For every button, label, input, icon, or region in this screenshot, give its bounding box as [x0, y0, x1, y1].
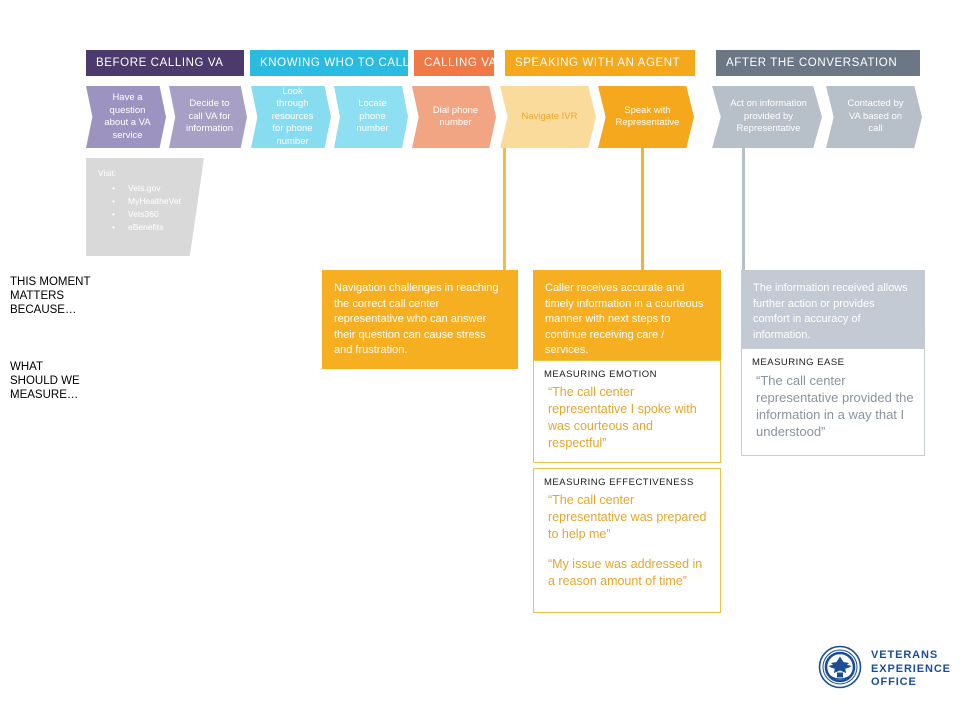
journey-step-label: Contacted byVA based oncall [848, 98, 904, 136]
va-seal-icon [818, 645, 862, 694]
measurement-quote-0: “The call center representative provided… [756, 373, 914, 439]
journey-step-label: Navigate IVR [522, 111, 578, 124]
visit-resources-panel: Visit: Vets.govMyHealtheVetVets360eBenef… [86, 158, 204, 256]
visit-resource-item-0: Vets.gov [112, 182, 194, 195]
journey-step-7: Act on informationprovided byRepresentat… [712, 86, 822, 148]
visit-resource-item-1: MyHealtheVet [112, 195, 194, 208]
connector-line-0 [503, 148, 506, 270]
moment-matters-box-2: The information received allows further … [741, 270, 925, 353]
measurement-quotes: “The call center representative was prep… [544, 492, 710, 590]
row-label-0: THIS MOMENT MATTERS BECAUSE… [10, 275, 91, 317]
logo-line-2: EXPERIENCE [871, 663, 951, 675]
moment-matters-text: The information received allows further … [753, 282, 908, 341]
journey-step-label: Speak withRepresentative [616, 105, 680, 130]
moment-matters-box-1: Caller receives accurate and timely info… [533, 270, 721, 369]
measurement-quotes: “The call center representative provided… [752, 372, 914, 440]
measurement-box-0: MEASURING EMOTION“The call center repres… [533, 360, 721, 463]
measurement-box-2: MEASURING EASE“The call center represent… [741, 348, 925, 456]
measurement-title: MEASURING EASE [752, 357, 914, 368]
phase-header-0: BEFORE CALLING VA [86, 50, 244, 76]
logo-wordmark: VETERANS EXPERIENCE OFFICE [871, 649, 951, 690]
measurement-title: MEASURING EMOTION [544, 369, 710, 380]
phase-header-label: AFTER THE CONVERSATION [726, 57, 897, 69]
measurement-quote-1: “My issue was addressed in a reason amou… [548, 557, 702, 588]
journey-map-canvas: BEFORE CALLING VAKNOWING WHO TO CALLCALL… [0, 0, 960, 720]
phase-header-2: CALLING VA [414, 50, 494, 76]
phase-header-label: KNOWING WHO TO CALL [260, 57, 410, 69]
journey-step-label: Decide tocall VA forinformation [186, 98, 233, 136]
visit-resource-item-3: eBenefits [112, 221, 194, 234]
measurement-title: MEASURING EFFECTIVENESS [544, 477, 710, 488]
journey-step-2: Lookthroughresourcesfor phonenumber [251, 86, 331, 148]
journey-step-5: Navigate IVR [500, 86, 596, 148]
row-label-1: WHAT SHOULD WE MEASURE… [10, 360, 80, 402]
veterans-experience-office-logo: VETERANS EXPERIENCE OFFICE [818, 645, 951, 694]
visit-resource-list: Vets.govMyHealtheVetVets360eBenefits [98, 182, 194, 234]
connector-line-2 [742, 148, 745, 270]
phase-header-3: SPEAKING WITH AN AGENT [505, 50, 695, 76]
journey-step-3: Locatephonenumber [334, 86, 408, 148]
connector-line-1 [641, 148, 644, 270]
moment-matters-box-0: Navigation challenges in reaching the co… [322, 270, 518, 369]
journey-step-label: Have aquestionabout a VAservice [104, 92, 150, 142]
phase-header-1: KNOWING WHO TO CALL [250, 50, 408, 76]
logo-line-3: OFFICE [871, 676, 917, 688]
moment-matters-text: Caller receives accurate and timely info… [545, 282, 703, 356]
visit-panel-heading: Visit: [98, 167, 194, 180]
journey-step-4: Dial phonenumber [412, 86, 496, 148]
phase-header-label: CALLING VA [424, 57, 497, 69]
journey-step-0: Have aquestionabout a VAservice [86, 86, 166, 148]
phase-header-label: BEFORE CALLING VA [96, 57, 224, 69]
journey-step-label: Act on informationprovided byRepresentat… [730, 98, 807, 136]
logo-line-1: VETERANS [871, 649, 938, 661]
visit-resource-item-2: Vets360 [112, 208, 194, 221]
journey-step-8: Contacted byVA based oncall [826, 86, 922, 148]
phase-header-4: AFTER THE CONVERSATION [716, 50, 920, 76]
measurement-quote-0: “The call center representative was prep… [548, 493, 706, 541]
measurement-box-1: MEASURING EFFECTIVENESS“The call center … [533, 468, 721, 613]
journey-step-label: Lookthroughresourcesfor phonenumber [272, 86, 314, 149]
moment-matters-text: Navigation challenges in reaching the co… [334, 282, 499, 356]
quote-separator [548, 543, 710, 556]
measurement-quote-0: “The call center representative I spoke … [548, 385, 697, 450]
journey-step-1: Decide tocall VA forinformation [169, 86, 247, 148]
measurement-quotes: “The call center representative I spoke … [544, 384, 710, 452]
journey-step-label: Locatephonenumber [356, 98, 388, 136]
journey-step-6: Speak withRepresentative [598, 86, 694, 148]
phase-header-label: SPEAKING WITH AN AGENT [515, 57, 680, 69]
journey-step-label: Dial phonenumber [433, 105, 478, 130]
